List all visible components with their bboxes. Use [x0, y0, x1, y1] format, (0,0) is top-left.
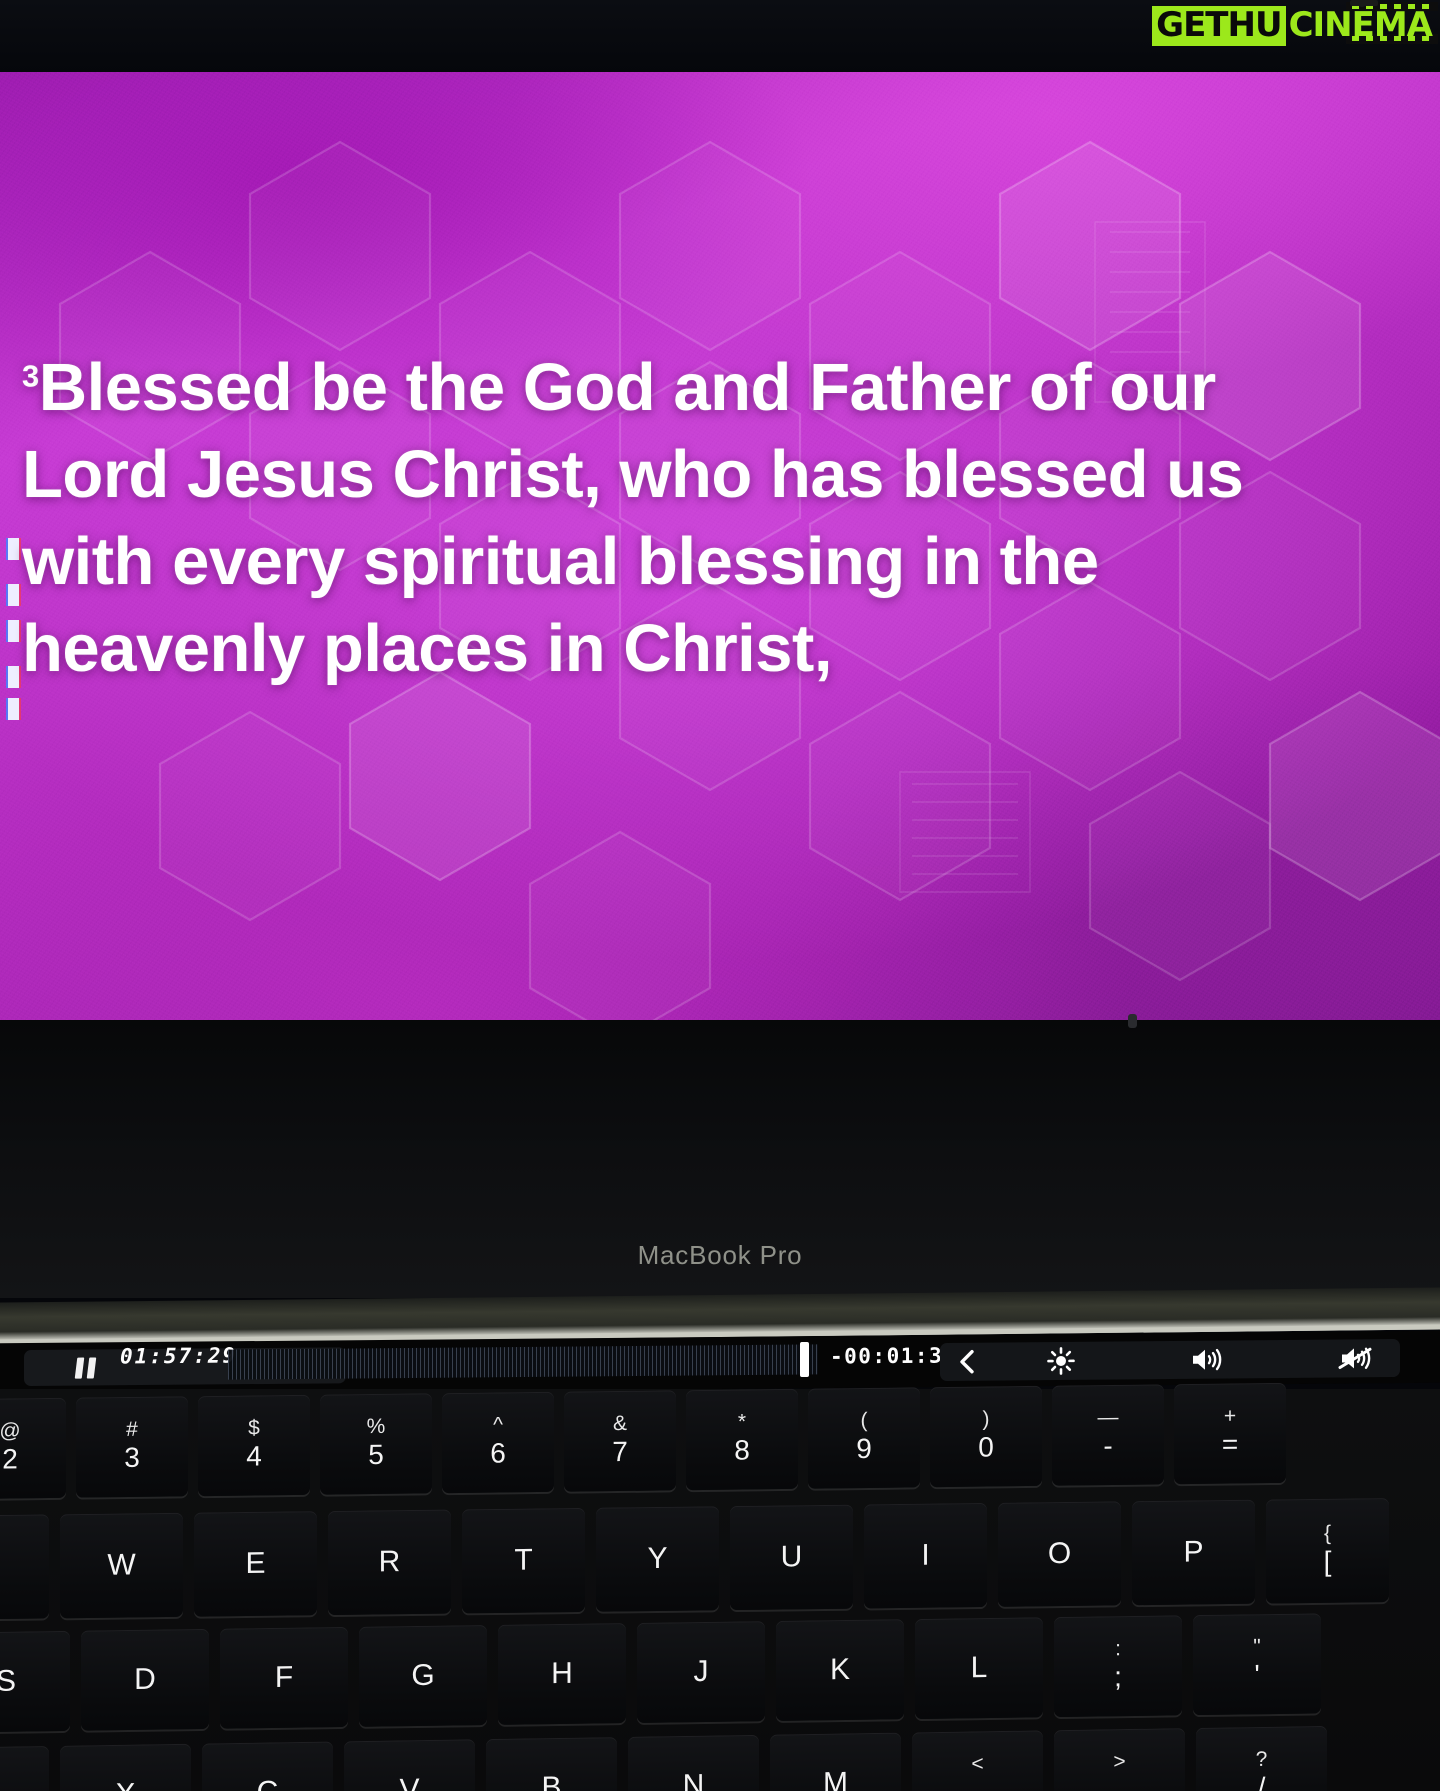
key-=[interactable]: += [1174, 1383, 1286, 1484]
key-label: 7 [612, 1434, 628, 1469]
key-6[interactable]: ^6 [442, 1392, 554, 1493]
key-shift-label: * [738, 1411, 746, 1432]
caption-marker [8, 666, 19, 688]
key-H[interactable]: H [498, 1623, 626, 1725]
key-label: K [830, 1653, 850, 1687]
key-label: 0 [978, 1429, 994, 1464]
key-label: 2 [2, 1441, 18, 1476]
key-label: M [823, 1766, 848, 1791]
key-label: X [115, 1778, 135, 1791]
key-G[interactable]: G [359, 1625, 487, 1727]
key-7[interactable]: &7 [564, 1390, 676, 1491]
key-D[interactable]: D [81, 1629, 209, 1731]
keyboard-row-zxcv[interactable]: ZXCVBNM<,>.?/ [0, 1726, 1327, 1791]
laptop-keyboard[interactable]: @2#3$4%5^6&7*8(9)0—-+= QWERTYUIOP{[ SDFG… [0, 1389, 1440, 1791]
key-shift-label: & [613, 1413, 627, 1434]
verse-line-1: 3Blessed be the God and Father of our [22, 344, 1440, 431]
key-3[interactable]: #3 [76, 1396, 188, 1497]
key-label: T [514, 1544, 532, 1578]
macbook-pro-label: MacBook Pro [0, 1240, 1440, 1271]
key-'[interactable]: "' [1193, 1613, 1321, 1715]
key--[interactable]: —- [1052, 1384, 1164, 1485]
key-Y[interactable]: Y [596, 1506, 719, 1612]
key-label: ; [1114, 1659, 1122, 1694]
scripture-text: 3Blessed be the God and Father of our Lo… [22, 344, 1440, 692]
key-B[interactable]: B [486, 1737, 617, 1791]
key-9[interactable]: (9 [808, 1387, 920, 1488]
key-shift-label: < [971, 1753, 983, 1774]
key-shift-label: ? [1256, 1749, 1268, 1770]
keyboard-number-row[interactable]: @2#3$4%5^6&7*8(9)0—-+= [0, 1383, 1286, 1499]
key-Q[interactable]: Q [0, 1514, 49, 1620]
volume-up-icon[interactable] [1180, 1340, 1234, 1378]
verse-line-4: heavenly places in Christ, [22, 605, 1440, 692]
key-C[interactable]: C [202, 1742, 333, 1791]
key-N[interactable]: N [628, 1735, 759, 1791]
key-label: 6 [490, 1435, 506, 1470]
key-F[interactable]: F [220, 1627, 348, 1729]
key-label: 3 [124, 1440, 140, 1475]
display-top-bezel: GETHU CINEMA [0, 0, 1440, 72]
key-label: J [694, 1655, 709, 1689]
watermark-gethu-cinema: GETHU CINEMA [1152, 4, 1434, 48]
key-Z[interactable]: Z [0, 1746, 49, 1791]
caption-marker [8, 698, 19, 720]
key-label: 5 [368, 1437, 384, 1472]
key-O[interactable]: O [998, 1501, 1121, 1607]
key-label: H [551, 1657, 573, 1691]
key-label: I [921, 1539, 929, 1573]
key-X[interactable]: X [60, 1744, 191, 1791]
key-label: U [781, 1540, 803, 1574]
key-label: G [411, 1659, 434, 1693]
volume-mute-icon[interactable] [1330, 1339, 1384, 1377]
key-label: O [1048, 1537, 1071, 1571]
key-/[interactable]: ?/ [1196, 1726, 1327, 1791]
key-label: - [1103, 1428, 1112, 1463]
key-L[interactable]: L [915, 1617, 1043, 1719]
key-shift-label: ) [983, 1408, 990, 1429]
key-P[interactable]: P [1132, 1500, 1255, 1606]
key-K[interactable]: K [776, 1619, 904, 1721]
key-;[interactable]: :; [1054, 1615, 1182, 1717]
key-shift-label: — [1098, 1407, 1119, 1428]
key-label: L [971, 1651, 988, 1685]
verse-line-3: with every spiritual blessing in the [22, 518, 1440, 605]
key-W[interactable]: W [60, 1513, 183, 1619]
chevron-left-icon[interactable] [940, 1343, 994, 1381]
key-label: 9 [856, 1431, 872, 1466]
key-label: [ [1324, 1544, 1332, 1579]
watermark-part-2: CINEMA [1286, 6, 1434, 46]
key-label: D [134, 1663, 156, 1697]
key-I[interactable]: I [864, 1503, 987, 1609]
key-,[interactable]: <, [912, 1730, 1043, 1791]
key-M[interactable]: M [770, 1733, 901, 1791]
keyboard-row-qwerty[interactable]: QWERTYUIOP{[ [0, 1498, 1389, 1620]
key-shift-label: ( [861, 1410, 868, 1431]
key-shift-label: % [367, 1416, 386, 1437]
brightness-icon[interactable] [1034, 1342, 1088, 1380]
laptop-display-screen: 3Blessed be the God and Father of our Lo… [0, 72, 1440, 1020]
touch-bar-control-strip[interactable] [940, 1339, 1400, 1381]
key-label: R [379, 1545, 401, 1579]
photo-of-laptop-screen: GETHU CINEMA [0, 0, 1440, 1791]
key-label: V [399, 1773, 419, 1791]
elapsed-time: 01:57:29 [120, 1343, 237, 1368]
key-shift-label: ^ [493, 1414, 503, 1435]
verse-line-1-text: Blessed be the God and Father of our [39, 350, 1216, 425]
key-label: C [257, 1775, 279, 1791]
verse-line-2: Lord Jesus Christ, who has blessed us [22, 431, 1440, 518]
key-E[interactable]: E [194, 1511, 317, 1617]
key-label: Y [647, 1542, 667, 1576]
keyboard-row-asdf[interactable]: SDFGHJKL:;"' [0, 1613, 1321, 1732]
key-[[interactable]: {[ [1266, 1498, 1389, 1604]
caption-marker [8, 538, 19, 560]
key-0[interactable]: )0 [930, 1386, 1042, 1487]
key-label: B [541, 1771, 561, 1791]
key-label: W [107, 1548, 135, 1582]
remaining-time: -00:01:38 [830, 1343, 957, 1368]
pause-icon[interactable] [76, 1357, 95, 1378]
key-2[interactable]: @2 [0, 1398, 66, 1499]
key-J[interactable]: J [637, 1621, 765, 1723]
verse-number: 3 [22, 359, 39, 394]
key-label: F [275, 1661, 293, 1695]
key-5[interactable]: %5 [320, 1393, 432, 1494]
key-shift-label: @ [0, 1420, 21, 1441]
key-4[interactable]: $4 [198, 1395, 310, 1496]
key-U[interactable]: U [730, 1505, 853, 1611]
key-R[interactable]: R [328, 1510, 451, 1616]
watermark-part-1: GETHU [1152, 6, 1285, 46]
key-shift-label: " [1253, 1636, 1260, 1657]
key-T[interactable]: T [462, 1508, 585, 1614]
key-shift-label: + [1224, 1405, 1236, 1426]
key-shift-label: { [1324, 1523, 1331, 1544]
key-shift-label: # [126, 1419, 138, 1440]
key-label: = [1222, 1426, 1238, 1461]
key-label: N [683, 1769, 705, 1791]
key-label: 4 [246, 1438, 262, 1473]
key-label: , [974, 1774, 982, 1791]
key-label: / [1258, 1770, 1266, 1791]
key-shift-label: > [1113, 1751, 1125, 1772]
playhead-marker[interactable] [800, 1342, 809, 1377]
caption-marker [8, 584, 19, 606]
key-label: E [245, 1547, 265, 1581]
caption-marker [8, 620, 19, 642]
camera-dot-icon [1128, 1014, 1137, 1028]
key-label: S [0, 1665, 16, 1699]
key-label: ' [1254, 1657, 1259, 1692]
key-8[interactable]: *8 [686, 1389, 798, 1490]
key-V[interactable]: V [344, 1739, 475, 1791]
key-shift-label: : [1115, 1638, 1121, 1659]
key-S[interactable]: S [0, 1631, 70, 1733]
key-label: P [1183, 1535, 1203, 1569]
key-shift-label: $ [248, 1417, 260, 1438]
key-.[interactable]: >. [1054, 1728, 1185, 1791]
key-label: . [1116, 1772, 1124, 1791]
waveform-scrubber[interactable] [228, 1344, 818, 1379]
key-label: 8 [734, 1432, 750, 1467]
